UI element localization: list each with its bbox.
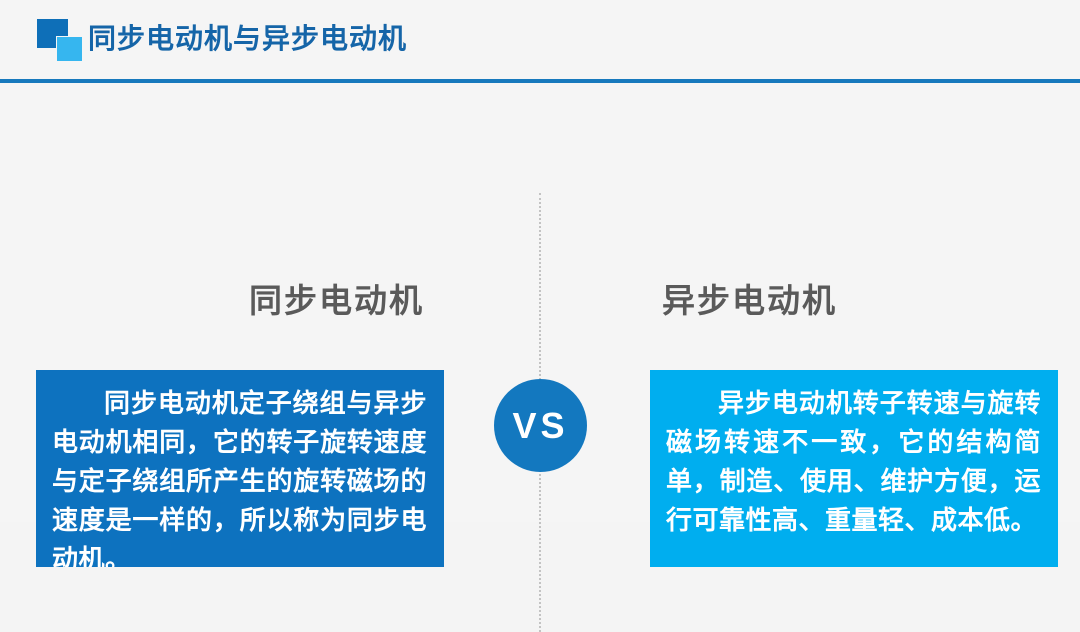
page-title: 同步电动机与异步电动机 [88, 19, 407, 59]
left-description-panel: 同步电动机定子绕组与异步电动机相同，它的转子旋转速度与定子绕组所产生的旋转磁场的… [36, 370, 444, 567]
two-squares-logo-icon [37, 19, 83, 61]
slide: 同步电动机与异步电动机 同步电动机 同步电动机定子绕组与异步电动机相同，它的转子… [0, 0, 1080, 522]
right-description-text: 异步电动机转子转速与旋转磁场转速不一致，它的结构简单，制造、使用、维护方便，运行… [666, 384, 1041, 540]
right-column-heading: 异步电动机 [662, 279, 837, 323]
slide-body: 同步电动机 同步电动机定子绕组与异步电动机相同，它的转子旋转速度与定子绕组所产生… [0, 83, 1080, 522]
left-description-text: 同步电动机定子绕组与异步电动机相同，它的转子旋转速度与定子绕组所产生的旋转磁场的… [52, 384, 427, 567]
left-column-heading: 同步电动机 [249, 279, 424, 323]
right-description-panel: 异步电动机转子转速与旋转磁场转速不一致，它的结构简单，制造、使用、维护方便，运行… [650, 370, 1058, 567]
logo-square-light [56, 36, 83, 62]
slide-header: 同步电动机与异步电动机 [0, 0, 1080, 81]
vs-badge: VS [494, 379, 587, 472]
